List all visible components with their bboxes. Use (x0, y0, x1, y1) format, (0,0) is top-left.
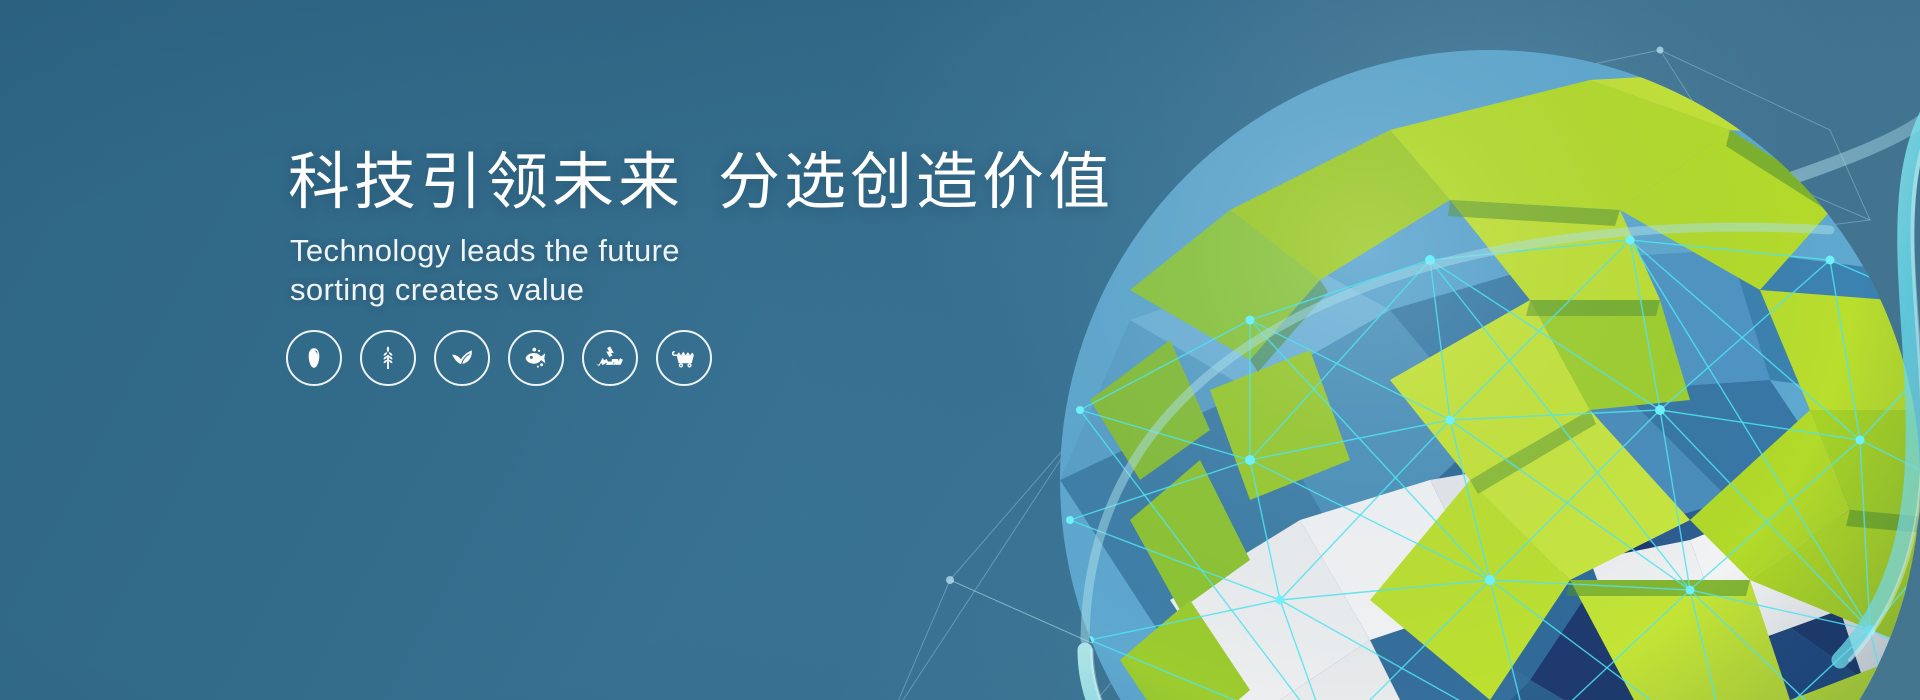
icon-badge-wheat[interactable] (360, 330, 416, 386)
wheat-ear-icon (373, 343, 403, 373)
subtitle-line-2: sorting creates value (290, 270, 1048, 309)
industry-icon-row (286, 330, 712, 386)
subtitle-line-1: Technology leads the future (290, 233, 680, 268)
rice-grain-icon (299, 343, 329, 373)
page-subtitle: Technology leads the future sorting crea… (290, 231, 1048, 309)
fish-icon (520, 342, 552, 374)
headline-part-1: 科技引领未来 (288, 148, 684, 217)
headline-part-2: 分选创造价值 (718, 148, 1114, 217)
mining-cart-icon (668, 342, 700, 374)
recycle-icon (595, 343, 625, 373)
hero-banner: 科技引领未来分选创造价值 Technology leads the future… (0, 0, 1920, 700)
icon-badge-recycle[interactable] (582, 330, 638, 386)
icon-badge-mining-cart[interactable] (656, 330, 712, 386)
hero-copy: 科技引领未来分选创造价值 Technology leads the future… (288, 150, 1048, 309)
icon-badge-leaf[interactable] (434, 330, 490, 386)
icon-badge-rice-grain[interactable] (286, 330, 342, 386)
page-title: 科技引领未来分选创造价值 (288, 150, 1048, 215)
icon-badge-fish[interactable] (508, 330, 564, 386)
tea-leaf-icon (446, 342, 478, 374)
